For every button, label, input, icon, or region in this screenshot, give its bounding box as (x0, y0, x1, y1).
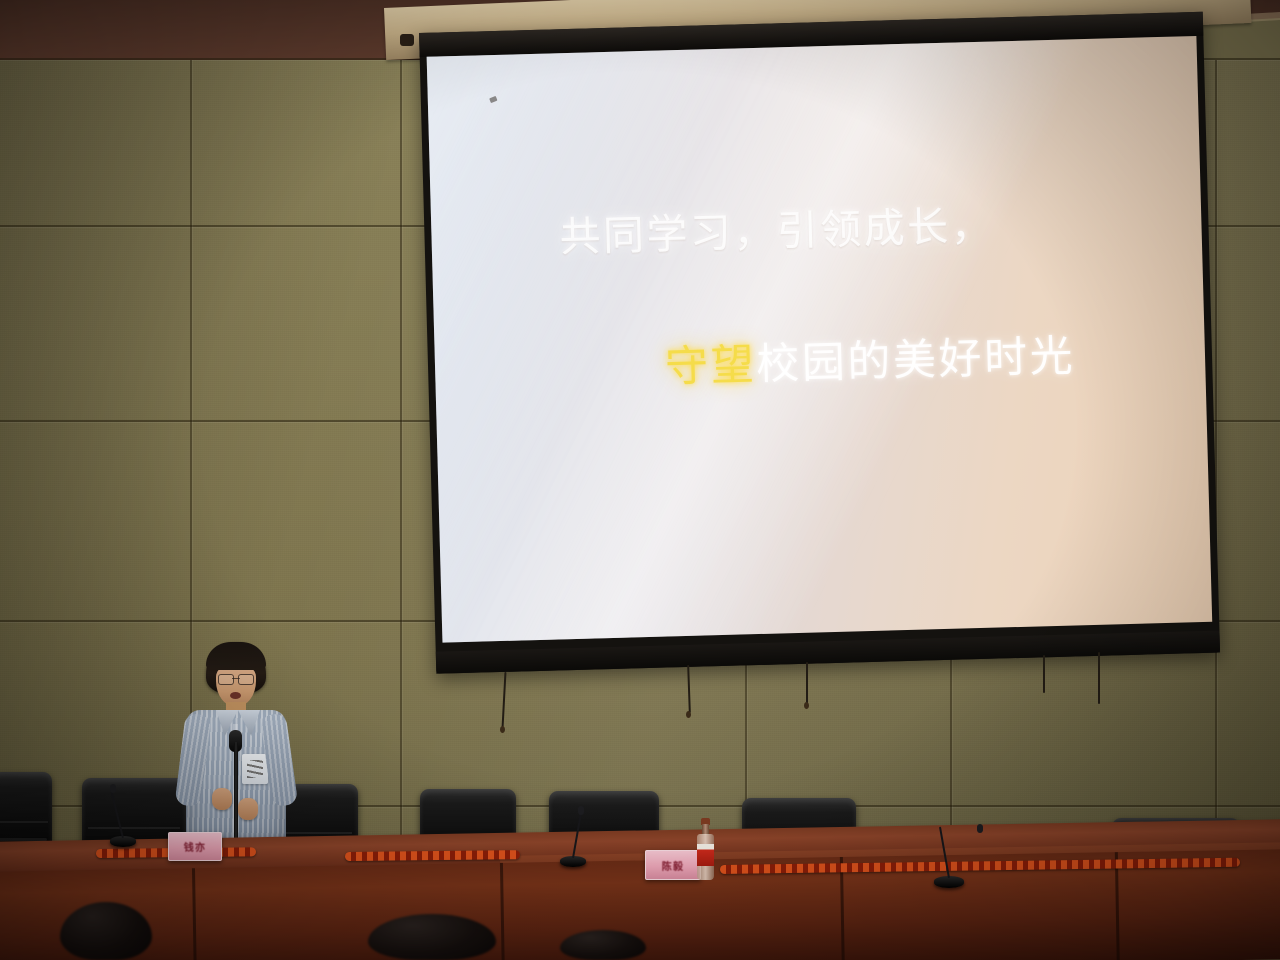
lecture-hall-photo: 共同学习，引领成长， 守望校园的美好时光 (0, 0, 1280, 960)
table-panel-seam (500, 863, 505, 960)
name-card-text: 陈毅 (662, 858, 684, 873)
water-bottle (697, 818, 714, 880)
desk-microphone-head (110, 784, 116, 793)
hanging-cord-knob (686, 711, 691, 718)
name-badge (242, 754, 268, 784)
desk-microphone-head (977, 824, 983, 833)
hanging-cord-knob (804, 702, 809, 709)
table-panel-seam (840, 857, 845, 960)
hanging-cord (1043, 655, 1045, 693)
presenter-mouth (230, 692, 241, 699)
hanging-cord (806, 662, 808, 704)
audience-head (368, 914, 496, 960)
projection-screen: 共同学习，引领成长， 守望校园的美好时光 (419, 12, 1220, 674)
glasses-icon (218, 674, 254, 683)
mount-bracket-icon (400, 34, 414, 46)
presenter-hand-right (238, 798, 258, 820)
slide-line-2: 守望校园的美好时光 (664, 321, 1076, 394)
name-card-text: 钱亦 (184, 839, 206, 854)
screen-surface: 共同学习，引领成长， 守望校园的美好时光 (427, 36, 1213, 643)
name-card: 陈毅 (645, 850, 701, 880)
presenter-hand-left (212, 788, 232, 810)
slide-line-2-rest: 校园的美好时光 (756, 331, 1076, 390)
slide-content: 共同学习，引领成长， 守望校园的美好时光 (427, 36, 1213, 643)
slide-line-2-highlight: 守望 (664, 340, 756, 392)
power-cable (345, 850, 520, 861)
slide-line-1: 共同学习，引领成长， (559, 192, 995, 264)
presenter-fringe (206, 642, 266, 670)
audience-head (560, 930, 646, 960)
name-card: 钱亦 (168, 832, 222, 861)
wall-seam (400, 60, 402, 900)
hanging-cord-knob (500, 726, 505, 733)
desk-microphone-head (578, 806, 584, 815)
table-panel-seam (192, 868, 197, 960)
hanging-cord (1098, 652, 1100, 704)
